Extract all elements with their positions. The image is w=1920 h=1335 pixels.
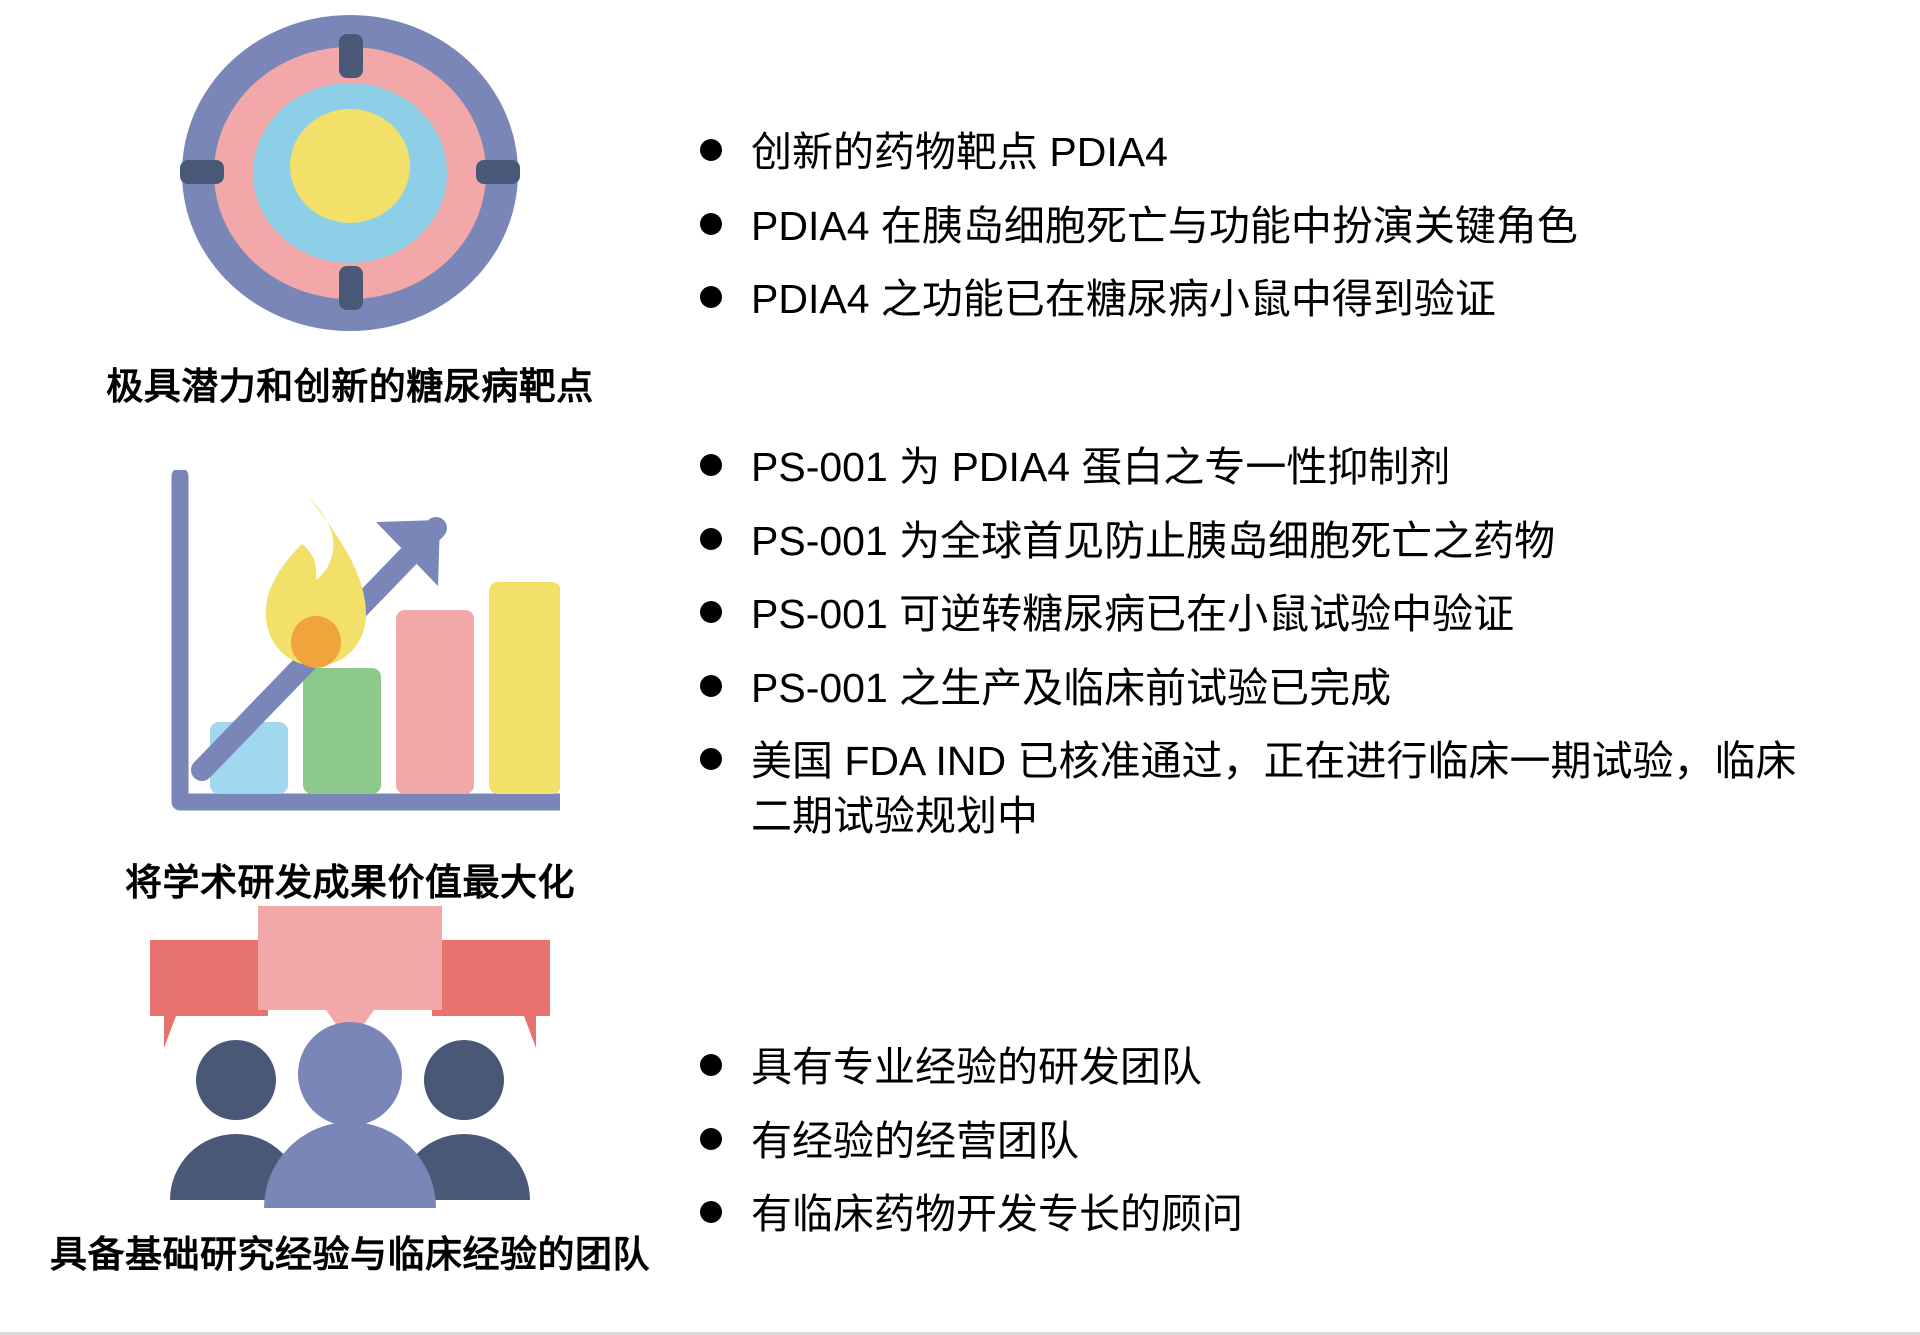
list-item: PS-001 之生产及临床前试验已完成 [700,661,1900,716]
bullet-text: PDIA4 之功能已在糖尿病小鼠中得到验证 [751,272,1496,327]
bullet-text: 美国 FDA IND 已核准通过，正在进行临床一期试验，临床二期试验规划中 [751,734,1821,843]
bullet-dot-icon [700,213,722,235]
bullet-dot-icon [700,1128,722,1150]
list-item: 有临床药物开发专长的顾问 [700,1187,1900,1242]
bullet-dot-icon [700,139,722,161]
list-item: PDIA4 在胰岛细胞死亡与功能中扮演关键角色 [700,199,1900,254]
bullet-text: 有临床药物开发专长的顾问 [751,1187,1243,1242]
bullet-text: 有经验的经营团队 [751,1114,1079,1169]
bullet-dot-icon [700,1201,722,1223]
feature-team-caption: 具备基础研究经验与临床经验的团队 [0,1224,700,1278]
list-item: PDIA4 之功能已在糖尿病小鼠中得到验证 [700,272,1900,327]
bullet-group-team: 具有专业经验的研发团队 有经验的经营团队 有临床药物开发专长的顾问 [700,1040,1900,1242]
bullet-dot-icon [700,528,722,550]
bullet-text: 创新的药物靶点 PDIA4 [751,125,1168,180]
bullet-dot-icon [700,454,722,476]
bullet-dot-icon [700,748,722,770]
bullet-dot-icon [700,675,722,697]
bullet-dot-icon [700,1054,722,1076]
bullet-group-target: 创新的药物靶点 PDIA4 PDIA4 在胰岛细胞死亡与功能中扮演关键角色 PD… [700,125,1900,327]
list-item: PS-001 为 PDIA4 蛋白之专一性抑制剂 [700,440,1900,495]
list-item: PS-001 可逆转糖尿病已在小鼠试验中验证 [700,587,1900,642]
list-item: 美国 FDA IND 已核准通过，正在进行临床一期试验，临床二期试验规划中 [700,734,1900,843]
bullet-text: PS-001 为全球首见防止胰岛细胞死亡之药物 [751,514,1555,569]
bullet-text: PS-001 之生产及临床前试验已完成 [751,661,1391,716]
list-item: PS-001 为全球首见防止胰岛细胞死亡之药物 [700,514,1900,569]
bullet-text: PDIA4 在胰岛细胞死亡与功能中扮演关键角色 [751,199,1578,254]
bullet-text: PS-001 可逆转糖尿病已在小鼠试验中验证 [751,587,1514,642]
list-item: 有经验的经营团队 [700,1114,1900,1169]
bullet-text: PS-001 为 PDIA4 蛋白之专一性抑制剂 [751,440,1450,495]
feature-target: 极具潜力和创新的糖尿病靶点 [0,8,700,410]
feature-growth-caption: 将学术研发成果价值最大化 [0,852,700,906]
bullet-group-drug: PS-001 为 PDIA4 蛋白之专一性抑制剂 PS-001 为全球首见防止胰… [700,440,1900,843]
feature-growth: 将学术研发成果价值最大化 [0,470,700,906]
team-speech-bubbles-icon [140,900,560,1210]
bullet-dot-icon [700,286,722,308]
feature-team: 具备基础研究经验与临床经验的团队 [0,900,700,1278]
feature-target-caption: 极具潜力和创新的糖尿病靶点 [0,356,700,410]
growth-chart-flame-icon [140,470,560,830]
bullseye-target-icon [150,8,550,338]
list-item: 具有专业经验的研发团队 [700,1040,1900,1095]
slide-canvas: 极具潜力和创新的糖尿病靶点 将学术研发成果价值最大化 [0,0,1920,1335]
feature-illustration-column: 极具潜力和创新的糖尿病靶点 将学术研发成果价值最大化 [0,0,700,1335]
list-item: 创新的药物靶点 PDIA4 [700,125,1900,180]
bullet-content-column: 创新的药物靶点 PDIA4 PDIA4 在胰岛细胞死亡与功能中扮演关键角色 PD… [700,0,1920,1335]
bullet-dot-icon [700,601,722,623]
bullet-text: 具有专业经验的研发团队 [751,1040,1202,1095]
